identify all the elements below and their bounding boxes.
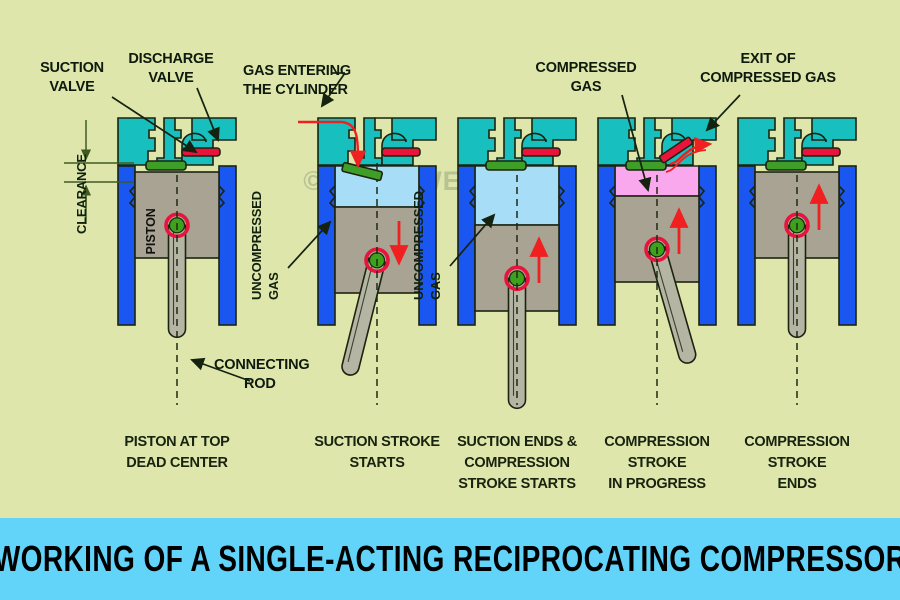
caption-suction-ends-compression-starts-line3: STROKE STARTS [458,476,576,492]
suction-valve-plate-closed [146,161,186,170]
cylinder-wall [839,166,856,325]
cylinder-wall [219,166,236,325]
callout-suction-valve-line1: SUCTION [40,60,104,76]
caption-suction-stroke-starts-line2: STARTS [349,455,405,471]
callout-gas-entering-line1: GAS ENTERING [243,63,351,79]
discharge-valve-plate-closed [522,148,560,156]
callout-connecting-rod-line2: ROD [244,376,276,392]
caption-compression-stroke-in-progress-line1: COMPRESSION [604,434,709,450]
cylinder-wall [699,166,716,325]
suction-valve-plate-closed [766,161,806,170]
uncompressed-gas-label-2-line2: GAS [428,272,443,300]
callout-discharge-valve-line2: VALVE [148,70,194,86]
callout-connecting-rod-line1: CONNECTING [214,357,309,373]
cylinder-wall [318,166,335,325]
piston-label: PISTON [144,208,158,254]
caption-compression-stroke-ends-line1: COMPRESSION [744,434,849,450]
discharge-valve-plate-closed [182,148,220,156]
cylinder-wall [559,166,576,325]
title-bar: WORKING OF A SINGLE-ACTING RECIPROCATING… [0,518,900,600]
caption-suction-ends-compression-starts-line2: COMPRESSION [464,455,569,471]
cylinder-wall [598,166,615,325]
compressor-diagram-svg: © ENGGWEB.COM PISTON CLEARANCE UNCOMPRES… [0,0,900,600]
discharge-valve-plate-closed [382,148,420,156]
caption-compression-stroke-in-progress-line3: IN PROGRESS [608,476,706,492]
uncompressed-gas-label-2-line1: UNCOMPRESSED [411,191,426,300]
uncompressed-gas-label-1-line2: GAS [266,272,281,300]
callout-compressed-gas-line1: COMPRESSED [535,60,636,76]
suction-valve-plate-closed [486,161,526,170]
caption-compression-stroke-ends-line2: STROKE [768,455,827,471]
caption-piston-at-top-dead-center-line1: PISTON AT TOP [124,434,230,450]
cylinder-wall [738,166,755,325]
suction-valve-plate-closed [626,161,666,170]
title-bar-text: WORKING OF A SINGLE-ACTING RECIPROCATING… [0,538,900,580]
uncompressed-gas-label-1-line1: UNCOMPRESSED [249,191,264,300]
caption-compression-stroke-ends-line3: ENDS [777,476,817,492]
callout-exit-line1: EXIT OF [741,51,796,67]
caption-piston-at-top-dead-center-line2: DEAD CENTER [126,455,228,471]
diagram-canvas: © ENGGWEB.COM PISTON CLEARANCE UNCOMPRES… [0,0,900,600]
caption-suction-ends-compression-starts-line1: SUCTION ENDS & [457,434,578,450]
clearance-label: CLEARANCE [74,154,89,234]
callout-suction-valve-line2: VALVE [49,79,95,95]
cylinder-wall [118,166,135,325]
caption-compression-stroke-in-progress-line2: STROKE [628,455,687,471]
cylinder-wall [458,166,475,325]
callout-discharge-valve-line1: DISCHARGE [128,51,214,67]
caption-suction-stroke-starts-line1: SUCTION STROKE [314,434,440,450]
callout-compressed-gas-line2: GAS [571,79,602,95]
discharge-valve-plate-closed [802,148,840,156]
callout-exit-line2: COMPRESSED GAS [700,70,836,86]
